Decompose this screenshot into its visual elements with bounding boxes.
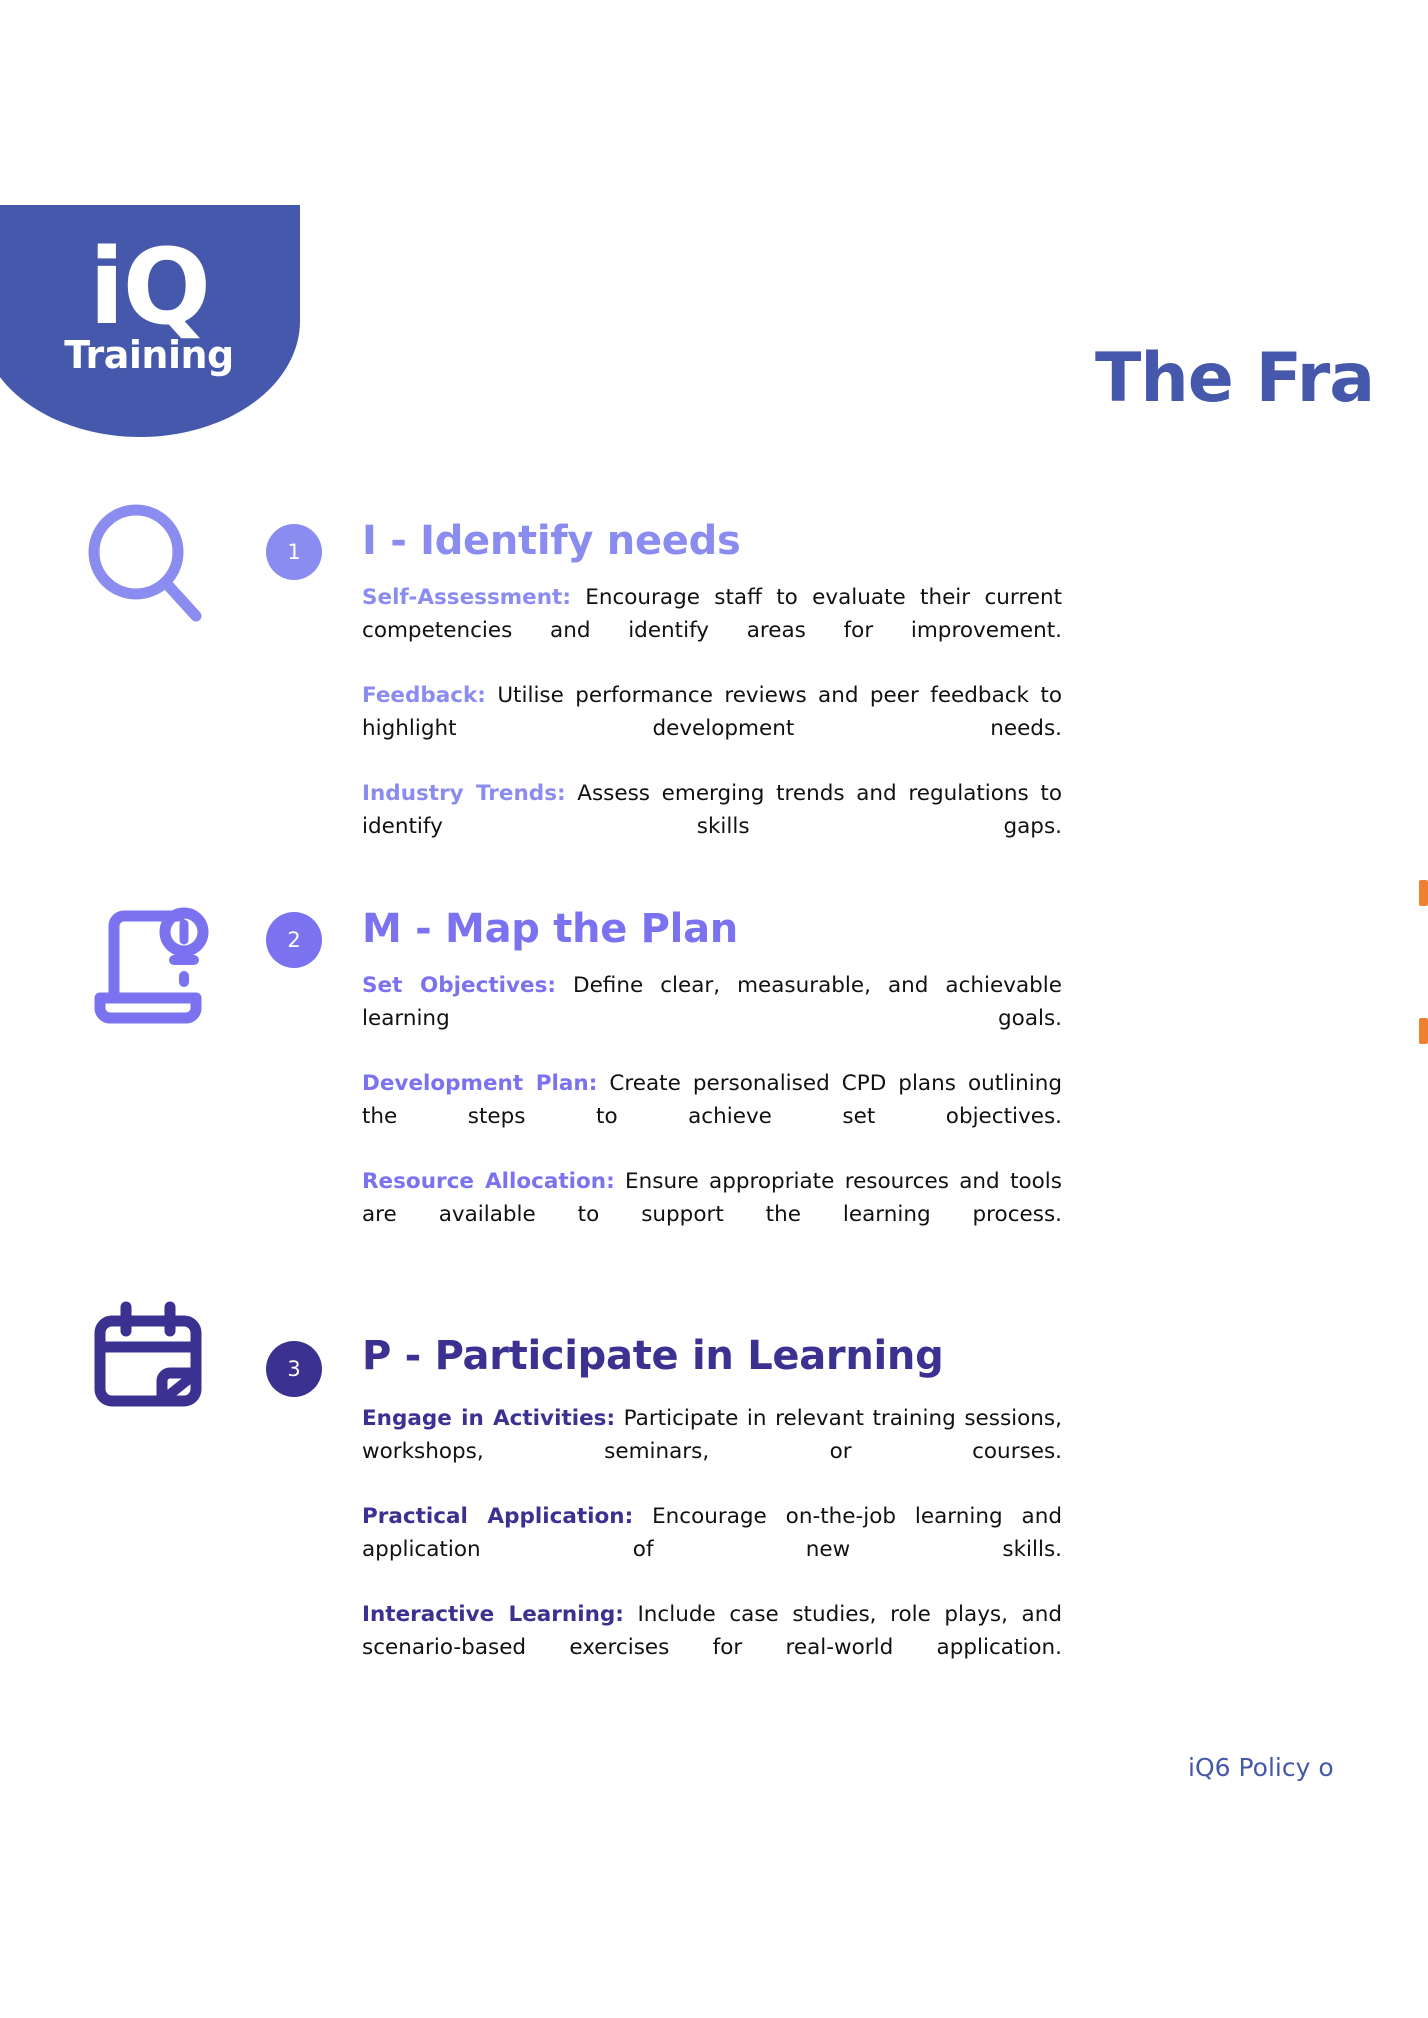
step-number-badge: 2	[266, 912, 322, 968]
step-body: Set Objectives: Define clear, measurable…	[362, 970, 1062, 1264]
plan-lightbulb-icon	[78, 890, 218, 1030]
edge-marker-orange-1	[1419, 880, 1428, 906]
body-item: Feedback: Utilise performance reviews an…	[362, 680, 1062, 778]
step-heading: I - Identify needs	[362, 520, 740, 562]
step-number-badge: 3	[266, 1341, 322, 1397]
item-lead: Set Objectives:	[362, 973, 556, 998]
edge-marker-orange-2	[1419, 1018, 1428, 1044]
step-number-badge: 1	[266, 524, 322, 580]
step-body: Engage in Activities: Participate in rel…	[362, 1403, 1062, 1697]
item-lead: Development Plan:	[362, 1071, 597, 1096]
footer-note: iQ6 Policy o	[1188, 1755, 1334, 1780]
logo-wordmark: iQ	[89, 242, 209, 334]
step-heading: M - Map the Plan	[362, 908, 738, 950]
body-item: Engage in Activities: Participate in rel…	[362, 1403, 1062, 1501]
step-heading: P - Participate in Learning	[362, 1335, 943, 1377]
magnifying-glass-icon	[78, 500, 218, 640]
body-item: Self-Assessment: Encourage staff to eval…	[362, 582, 1062, 680]
item-lead: Industry Trends:	[362, 781, 566, 806]
item-lead: Engage in Activities:	[362, 1406, 615, 1431]
item-lead: Resource Allocation:	[362, 1169, 615, 1194]
item-lead: Feedback:	[362, 683, 486, 708]
body-item: Development Plan: Create personalised CP…	[362, 1068, 1062, 1166]
body-item: Resource Allocation: Ensure appropriate …	[362, 1166, 1062, 1264]
poster-page: iQ Training The Fra 1 I - Identify needs…	[0, 0, 1428, 2018]
step-body: Self-Assessment: Encourage staff to eval…	[362, 582, 1062, 876]
logo-subtitle: Training	[64, 336, 234, 374]
item-lead: Self-Assessment:	[362, 585, 571, 610]
item-lead: Interactive Learning:	[362, 1602, 624, 1627]
iq-training-logo: iQ Training	[0, 205, 300, 437]
body-item: Practical Application: Encourage on-the-…	[362, 1501, 1062, 1599]
item-lead: Practical Application:	[362, 1504, 633, 1529]
body-item: Industry Trends: Assess emerging trends …	[362, 778, 1062, 876]
calendar-icon	[78, 1285, 218, 1425]
body-item: Interactive Learning: Include case studi…	[362, 1599, 1062, 1697]
page-title: The Fra	[1095, 345, 1374, 413]
body-item: Set Objectives: Define clear, measurable…	[362, 970, 1062, 1068]
